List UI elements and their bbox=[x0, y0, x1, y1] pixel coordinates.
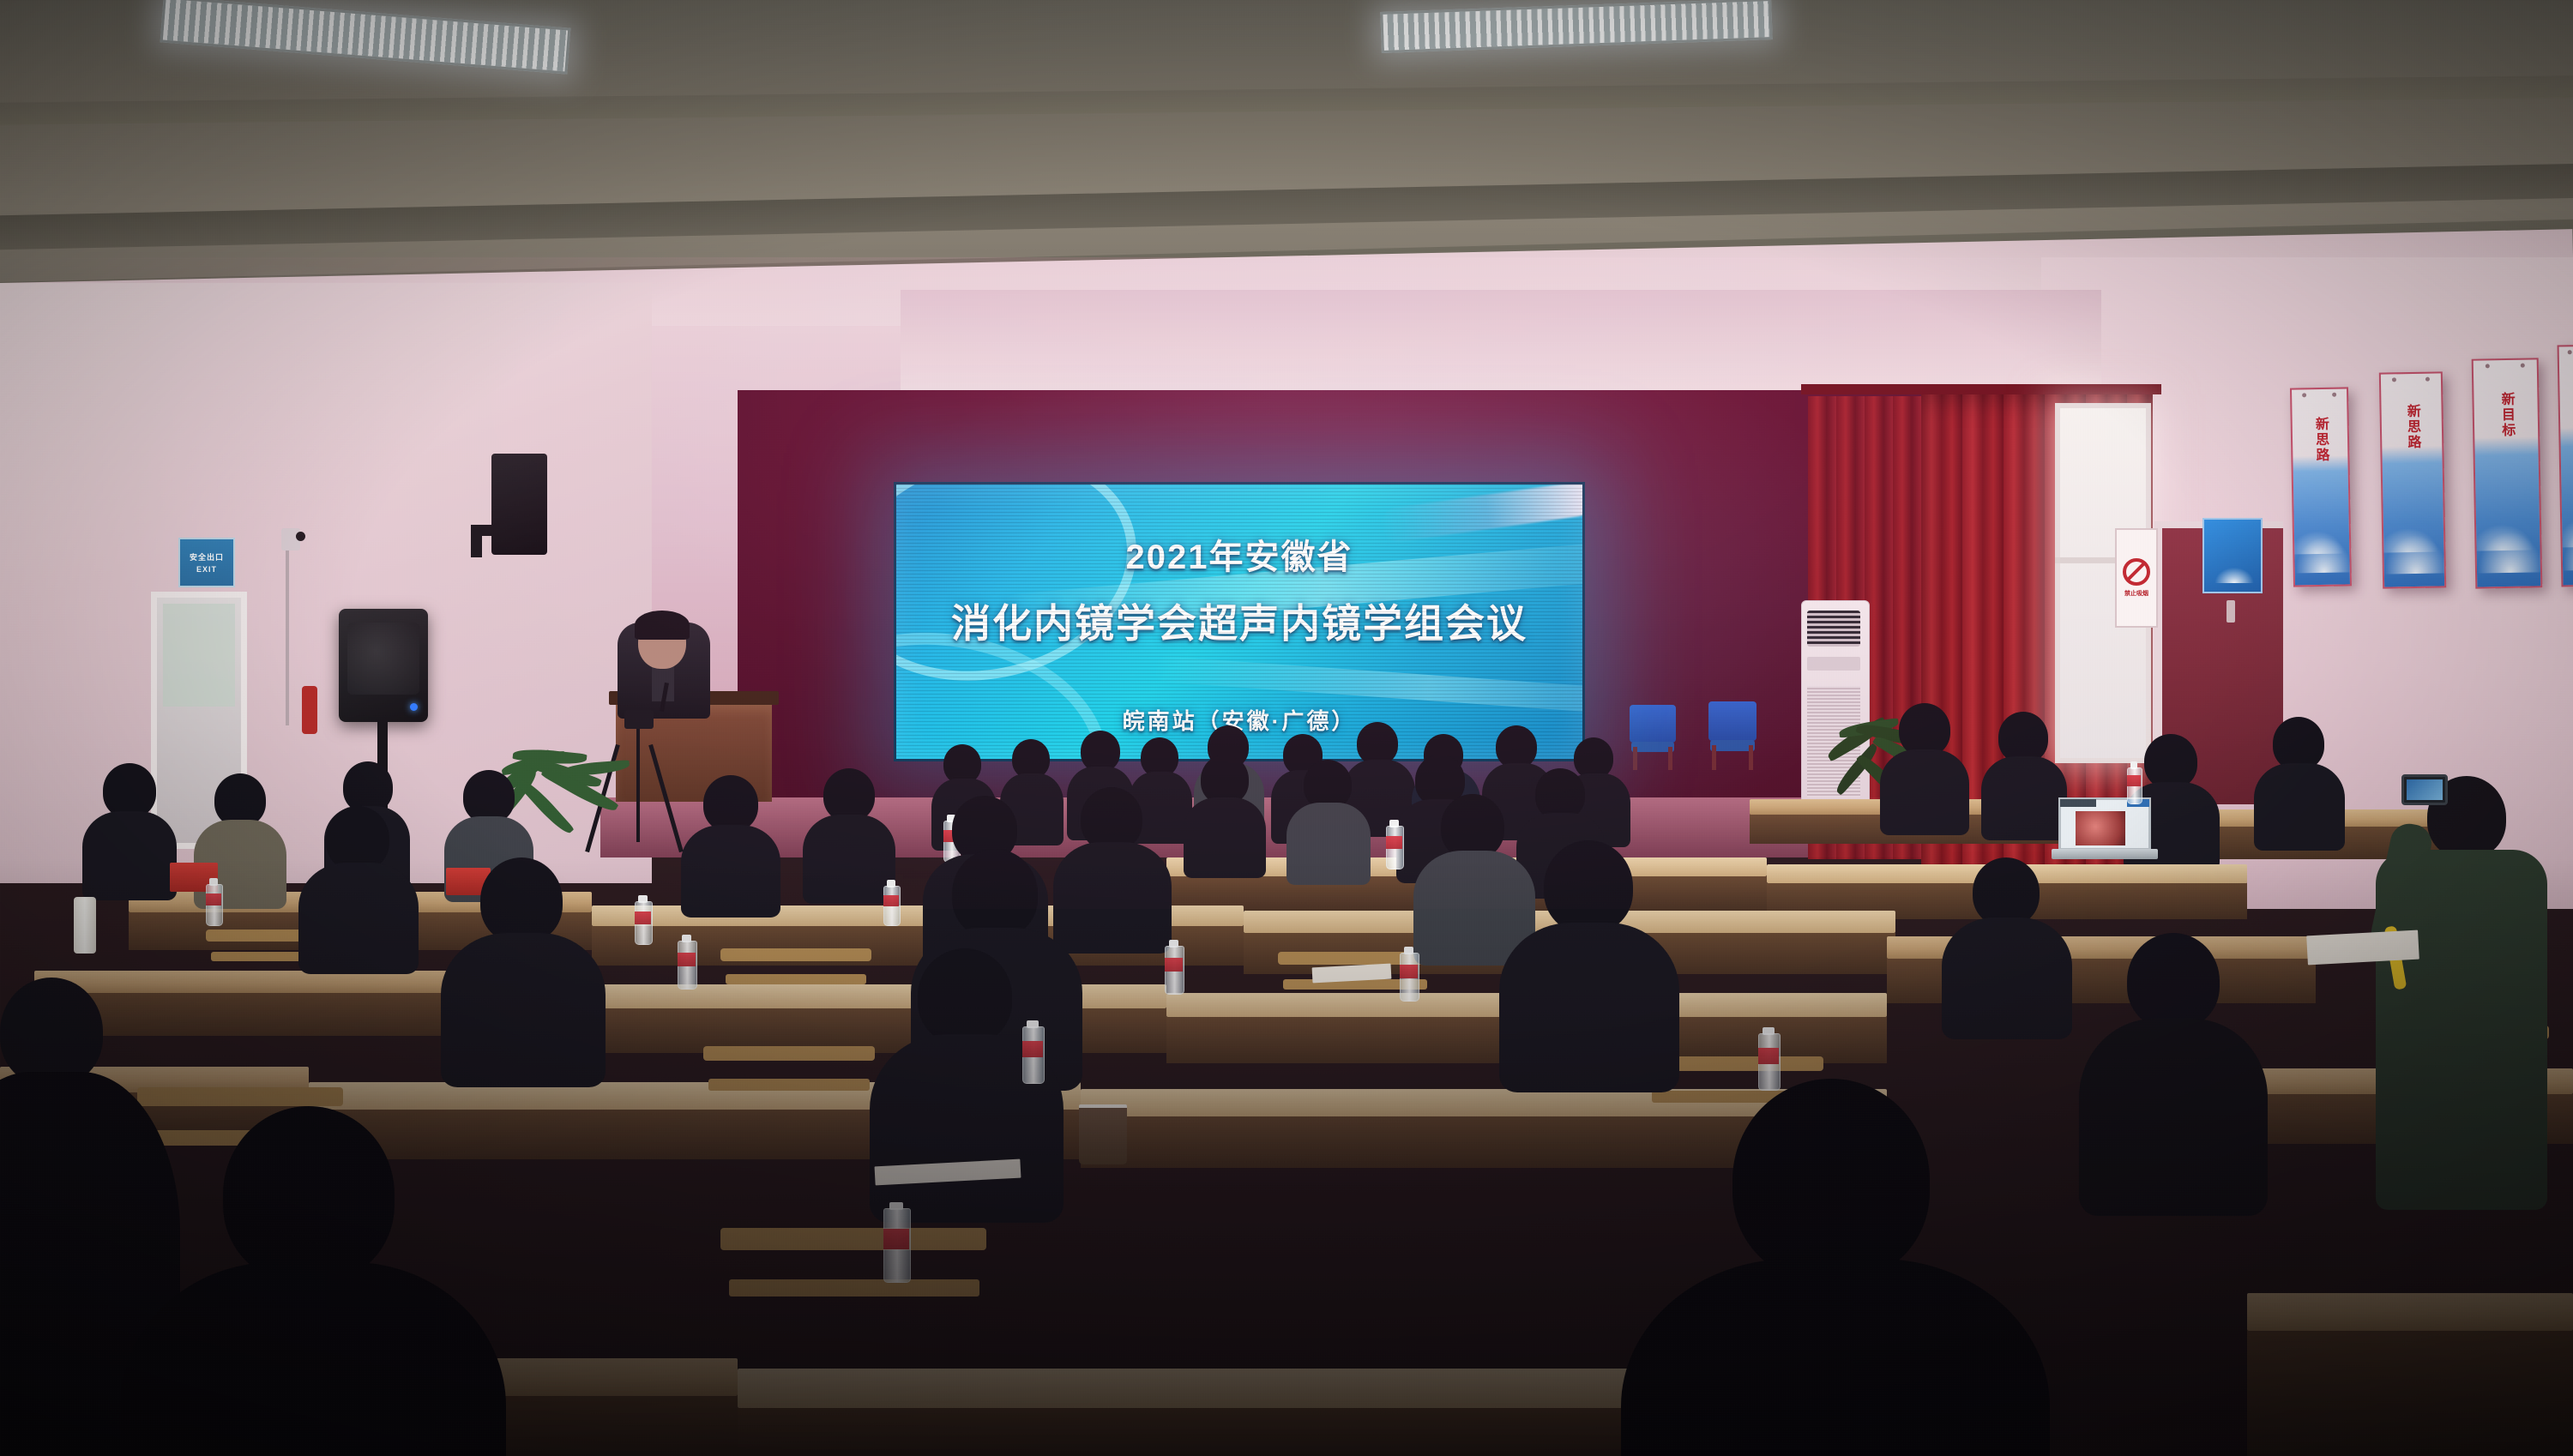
wall-poster-blue bbox=[2202, 518, 2263, 593]
fire-extinguisher bbox=[302, 686, 317, 734]
laptop-keyboard-base[interactable] bbox=[2052, 849, 2158, 859]
wall-banner-1-text: 新思路 bbox=[2312, 417, 2327, 463]
curtain-rod bbox=[1801, 384, 2161, 394]
desk-foreground-mid-front bbox=[738, 1408, 1681, 1456]
no-smoking-sign: 禁止吸烟 bbox=[2115, 528, 2158, 628]
paper-cup[interactable] bbox=[1079, 1104, 1127, 1164]
wall-speaker-bracket-post bbox=[471, 525, 482, 557]
wall-speaker-left bbox=[491, 454, 547, 555]
no-smoking-caption: 禁止吸烟 bbox=[2124, 589, 2148, 598]
desk-foreground-mid bbox=[738, 1369, 1681, 1408]
laptop-app-titlebar bbox=[2060, 799, 2096, 807]
chair-back[interactable] bbox=[720, 948, 871, 961]
handout-papers[interactable] bbox=[2306, 930, 2419, 966]
stage-chair-2 bbox=[1708, 701, 1757, 770]
led-scanlines bbox=[896, 484, 1582, 759]
desk-foreground-right bbox=[2247, 1293, 2573, 1331]
water-bottle[interactable] bbox=[883, 880, 899, 924]
water-bottle[interactable] bbox=[1400, 947, 1418, 1000]
conference-hall-photo: 安全出口 EXIT 2021年安徽省 消化内镜学会超声内镜学组会议 皖南站（安徽… bbox=[0, 0, 2573, 1456]
air-conditioner-panel bbox=[1807, 657, 1860, 671]
camera-lens-icon bbox=[296, 532, 305, 541]
chair-back[interactable] bbox=[703, 1046, 875, 1061]
water-bottle[interactable] bbox=[883, 1202, 909, 1281]
chair-rail bbox=[729, 1279, 979, 1297]
laptop-endoscopy-image bbox=[2076, 811, 2125, 845]
water-bottle[interactable] bbox=[206, 878, 221, 924]
thermos-flask[interactable] bbox=[74, 897, 96, 954]
water-bottle[interactable] bbox=[1165, 940, 1183, 993]
exit-sign-line2: EXIT bbox=[196, 565, 217, 574]
laptop[interactable] bbox=[2058, 797, 2151, 859]
led-screen: 2021年安徽省 消化内镜学会超声内镜学组会议 皖南站（安徽·广德） bbox=[894, 482, 1585, 761]
water-bottle[interactable] bbox=[1386, 820, 1402, 868]
air-conditioner-grille-icon bbox=[1807, 611, 1860, 647]
pa-speaker-left bbox=[339, 609, 428, 722]
chair-rail bbox=[708, 1079, 870, 1091]
desk-foreground-right-front bbox=[2247, 1331, 2573, 1456]
chair-rail bbox=[726, 974, 866, 984]
wall-banner-2-text: 新思路 bbox=[2404, 404, 2419, 450]
wall-banner-3-text: 新目标 bbox=[2498, 392, 2513, 438]
soffit bbox=[901, 290, 2101, 393]
water-bottle[interactable] bbox=[1758, 1027, 1779, 1089]
door-handle[interactable] bbox=[2227, 600, 2235, 623]
water-bottle[interactable] bbox=[2127, 761, 2141, 803]
tripod-camera-head bbox=[624, 710, 654, 729]
exit-sign: 安全出口 EXIT bbox=[178, 538, 235, 587]
water-bottle[interactable] bbox=[678, 935, 696, 988]
exit-sign-line1: 安全出口 bbox=[190, 551, 224, 563]
wall-banner-3: 新目标 bbox=[2472, 358, 2543, 588]
water-bottle[interactable] bbox=[635, 895, 651, 943]
stage-chair-1 bbox=[1630, 705, 1676, 770]
wall-cable bbox=[286, 542, 289, 725]
chair-back[interactable] bbox=[720, 1228, 986, 1250]
no-smoking-icon bbox=[2123, 558, 2150, 586]
smartphone-screen bbox=[2407, 779, 2443, 800]
wall-banner-2: 新思路 bbox=[2379, 371, 2446, 588]
wall-banner-1: 新思路 bbox=[2290, 387, 2352, 587]
water-bottle[interactable] bbox=[1022, 1020, 1043, 1082]
chair-back[interactable] bbox=[137, 1087, 343, 1106]
left-door-glass bbox=[163, 604, 235, 707]
